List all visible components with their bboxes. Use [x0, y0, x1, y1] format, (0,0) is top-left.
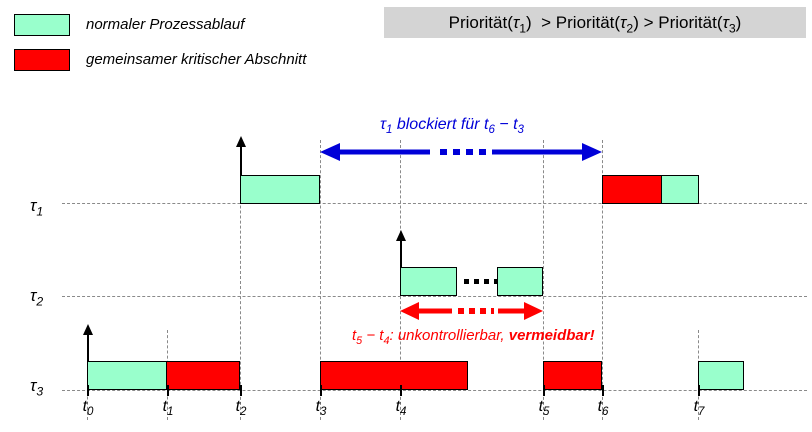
- tick-label-t0: t0: [83, 398, 94, 418]
- arrival-arrowhead-tau1: [236, 136, 246, 147]
- annotation-blocking-text: τ1 blockiert für t6 − t3: [380, 116, 524, 136]
- arrival-arrowhead-tau2: [396, 230, 406, 241]
- block-tau1-normal-2: [661, 175, 699, 204]
- block-tau1-critical-1: [602, 175, 662, 204]
- legend-label-critical: gemeinsamer kritischer Abschnitt: [86, 49, 306, 71]
- block-tau2-normal-2: [497, 267, 543, 296]
- blue-blocking-arrow: [320, 143, 602, 161]
- task-label-tau1: τ1: [30, 196, 43, 218]
- tick-label-t7: t7: [694, 398, 705, 418]
- annotation-inversion-text: t5 − t4: unkontrollierbar, vermeidbar!: [352, 327, 595, 347]
- tick-label-t2: t2: [236, 398, 247, 418]
- block-tau3-normal-1: [87, 361, 167, 390]
- tick-label-t5: t5: [539, 398, 550, 418]
- task-label-tau2: τ2: [30, 286, 43, 308]
- block-tau1-normal-1: [240, 175, 320, 204]
- tick-t2: [240, 385, 242, 396]
- block-tau3-critical-3: [543, 361, 602, 390]
- ellipsis-tau2: [464, 279, 499, 284]
- block-tau3-critical-1: [166, 361, 240, 390]
- tick-label-t3: t3: [316, 398, 327, 418]
- task-label-tau3: τ3: [30, 376, 43, 398]
- baseline-tau2: [62, 296, 807, 297]
- block-tau3-normal-2: [698, 361, 744, 390]
- tick-t5: [543, 385, 545, 396]
- tick-label-t4: t4: [396, 398, 407, 418]
- legend-label-normal: normaler Prozessablauf: [86, 14, 244, 36]
- red-inversion-arrow: [400, 302, 543, 320]
- tick-t1: [167, 385, 169, 396]
- block-tau2-normal-1: [400, 267, 457, 296]
- tick-t0: [87, 385, 89, 396]
- tick-label-t1: t1: [163, 398, 174, 418]
- tick-t4: [400, 385, 402, 396]
- priority-formula-box: Priorität(τ1) > Priorität(τ2) > Prioritä…: [384, 7, 806, 38]
- tick-t3: [320, 385, 322, 396]
- diagram-canvas: normaler Prozessablauf gemeinsamer kriti…: [0, 0, 812, 432]
- tick-label-t6: t6: [598, 398, 609, 418]
- baseline-tau3: [62, 390, 807, 391]
- tick-t7: [698, 385, 700, 396]
- block-tau3-critical-2: [320, 361, 468, 390]
- priority-formula-text: Priorität(τ1) > Priorität(τ2) > Prioritä…: [449, 13, 742, 32]
- green-swatch: [14, 14, 70, 36]
- red-swatch: [14, 49, 70, 71]
- arrival-arrowhead-tau3: [83, 324, 93, 335]
- tick-t6: [602, 385, 604, 396]
